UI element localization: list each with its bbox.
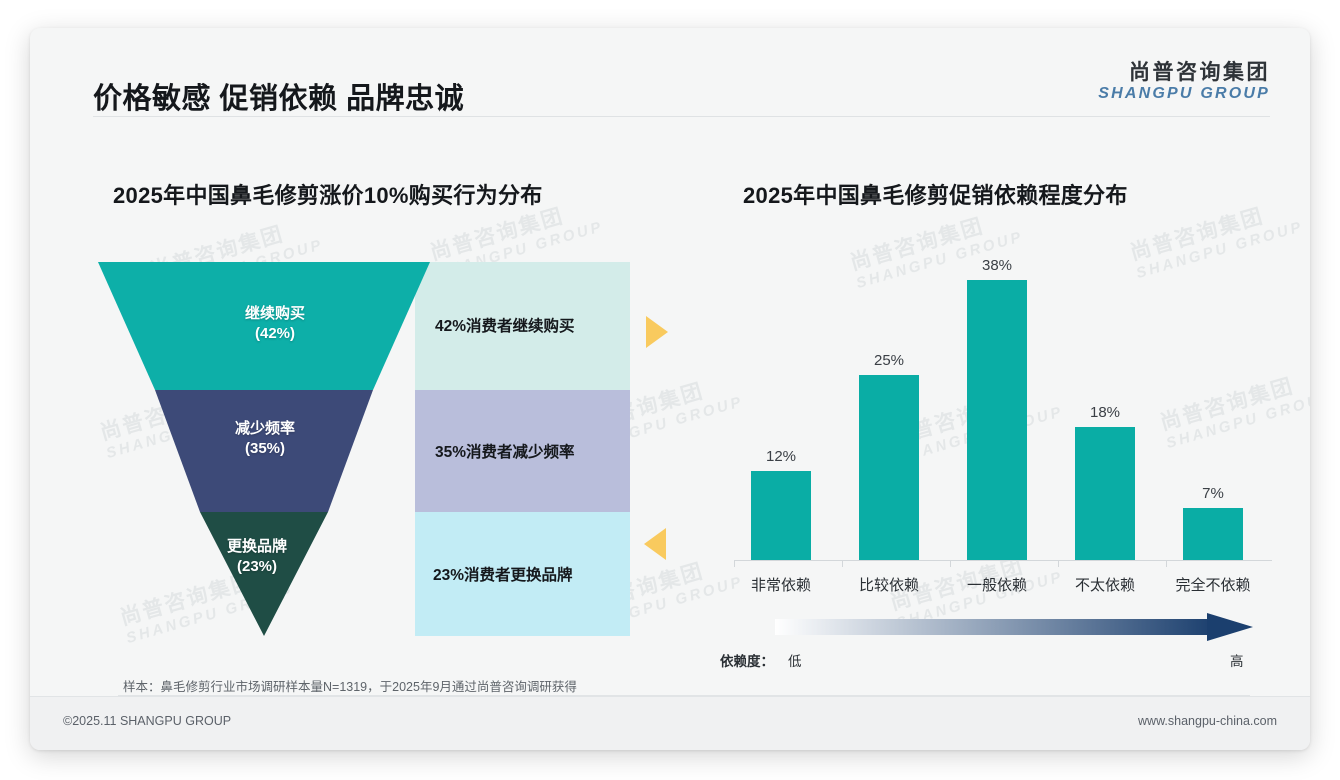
bar-rect[interactable] [859, 375, 919, 560]
funnel-chart: 继续购买 (42%) 减少频率 (35%) 更换品牌 (23%) 42%消费者继… [85, 254, 685, 654]
funnel-segment-value-2: (23%) [237, 558, 277, 575]
funnel-segment-name-2: 更换品牌 [227, 538, 287, 555]
logo-english-name: SHANGPU GROUP [1098, 85, 1270, 103]
bar-value-label: 18% [1058, 404, 1152, 421]
funnel-segment-name-0: 继续购买 [245, 305, 305, 322]
bar-column[interactable]: 12% [734, 448, 828, 560]
bar-chart: 12%25%38%18%7% 非常依赖比较依赖一般依赖不太依赖完全不依赖 [730, 250, 1280, 600]
funnel-segment-value-0: (42%) [255, 325, 295, 342]
bar-column[interactable]: 25% [842, 352, 936, 560]
x-axis-tick [1058, 560, 1059, 567]
x-axis-tick [950, 560, 951, 567]
funnel-segment-name-1: 减少频率 [235, 420, 295, 437]
bar-column[interactable]: 7% [1166, 485, 1260, 560]
logo-chinese-name: 尚普咨询集团 [1098, 61, 1270, 84]
dependency-gradient-legend: 依赖度： 低 高 [720, 612, 1280, 682]
x-axis-tick [1166, 560, 1167, 567]
funnel-note-0: 42%消费者继续购买 [435, 314, 575, 336]
brand-logo: 尚普咨询集团 SHANGPU GROUP [1098, 61, 1270, 103]
funnel-segment-value-1: (35%) [245, 440, 285, 457]
bar-value-label: 12% [734, 448, 828, 465]
x-axis-category-label: 比较依赖 [834, 574, 944, 595]
slide-footer: ©2025.11 SHANGPU GROUP www.shangpu-china… [30, 696, 1310, 750]
funnel-segment-label-1: 减少频率 (35%) [185, 419, 345, 458]
page-title: 价格敏感 促销依赖 品牌忠诚 [93, 75, 464, 117]
footer-website[interactable]: www.shangpu-china.com [1138, 714, 1277, 728]
x-axis-line [734, 560, 1272, 561]
triangle-right-icon [642, 314, 670, 350]
bar-value-label: 25% [842, 352, 936, 369]
header-divider [93, 116, 1270, 117]
funnel-note-1: 35%消费者减少频率 [435, 440, 575, 462]
gradient-arrow [775, 612, 1257, 642]
slide-card: 尚普咨询集团 SHANGPU GROUP 尚普咨询集团 SHANGPU GROU… [30, 28, 1310, 750]
footer-copyright: ©2025.11 SHANGPU GROUP [63, 714, 231, 728]
bar-value-label: 38% [950, 257, 1044, 274]
x-axis-category-label: 不太依赖 [1050, 574, 1160, 595]
legend-low-label: 低 [788, 650, 802, 670]
bar-rect[interactable] [1183, 508, 1243, 560]
bar-rect[interactable] [1075, 427, 1135, 560]
x-axis-category-label: 非常依赖 [726, 574, 836, 595]
funnel-panel: 2025年中国鼻毛修剪涨价10%购买行为分布 继续购买 (42%) 减少频率 (… [85, 154, 685, 684]
sample-footnote: 样本：鼻毛修剪行业市场调研样本量N=1319，于2025年9月通过尚普咨询调研获… [123, 676, 577, 695]
slide-header: 价格敏感 促销依赖 品牌忠诚 尚普咨询集团 SHANGPU GROUP [30, 28, 1310, 116]
funnel-segment-label-0: 继续购买 (42%) [195, 304, 355, 343]
bar-column[interactable]: 18% [1058, 404, 1152, 560]
funnel-note-2: 23%消费者更换品牌 [433, 563, 573, 585]
triangle-left-icon [642, 526, 670, 562]
bar-chart-title: 2025年中国鼻毛修剪促销依赖程度分布 [743, 178, 1128, 210]
funnel-segment-label-2: 更换品牌 (23%) [182, 537, 332, 576]
legend-high-label: 高 [1230, 650, 1244, 670]
funnel-svg [85, 254, 685, 654]
x-axis-tick [734, 560, 735, 567]
bar-column[interactable]: 38% [950, 257, 1044, 560]
bar-chart-panel: 2025年中国鼻毛修剪促销依赖程度分布 12%25%38%18%7% 非常依赖比… [720, 154, 1280, 684]
bar-plot-area: 12%25%38%18%7% [730, 250, 1280, 560]
legend-title: 依赖度： [720, 650, 774, 670]
gradient-arrow-svg [775, 612, 1257, 642]
bar-rect[interactable] [967, 280, 1027, 560]
x-axis-category-label: 完全不依赖 [1158, 574, 1268, 595]
x-axis-category-label: 一般依赖 [942, 574, 1052, 595]
bar-value-label: 7% [1166, 485, 1260, 502]
bar-rect[interactable] [751, 471, 811, 560]
x-axis-tick [842, 560, 843, 567]
funnel-chart-title: 2025年中国鼻毛修剪涨价10%购买行为分布 [113, 178, 543, 210]
